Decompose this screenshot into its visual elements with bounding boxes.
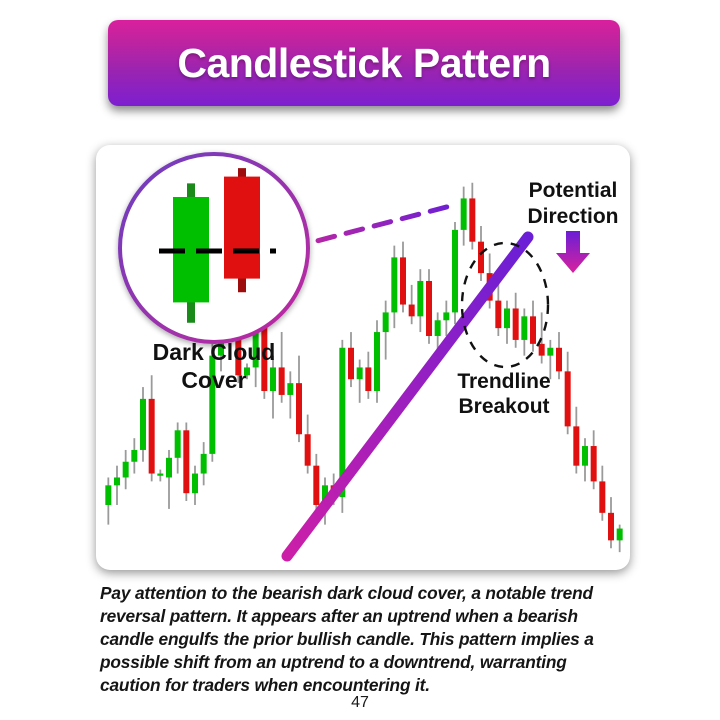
potential-direction-arrow-icon: [556, 231, 590, 273]
candle-body-bullish: [287, 383, 293, 395]
candle-body-bearish: [478, 242, 484, 273]
page-root: Candlestick Pattern: [0, 0, 720, 720]
breakout-label-line1: Trendline: [457, 370, 550, 393]
candle-body-bearish: [183, 430, 189, 493]
candle-body-bullish: [435, 320, 441, 336]
candle-body-bullish: [192, 474, 198, 494]
candle-body-bullish: [105, 485, 111, 505]
candle-body-bullish: [157, 474, 163, 476]
magnifier-label-line1: Dark Cloud: [153, 339, 276, 365]
candle-body-bearish: [279, 367, 285, 395]
candle-body-bullish: [114, 477, 120, 485]
magnifier-connector-line: [290, 204, 458, 248]
magnifier-lens: [120, 154, 308, 342]
candle-body-bullish: [270, 367, 276, 391]
candle-body-bearish: [469, 198, 475, 241]
candle-body-bearish: [305, 434, 311, 465]
candle-body-bullish: [140, 399, 146, 450]
candle-body-bearish: [565, 371, 571, 426]
candle-body-bearish: [426, 281, 432, 336]
candle-body-bullish: [175, 430, 181, 458]
caption-text: Pay attention to the bearish dark cloud …: [100, 582, 628, 697]
candlestick-chart: Dark Cloud Cover Trendline Breakout Pote…: [96, 145, 630, 570]
candle-body-bearish: [348, 348, 354, 379]
candle-body-bearish: [556, 348, 562, 372]
candle-body-bearish: [365, 367, 371, 391]
candle-body-bullish: [383, 312, 389, 332]
candle-body-bullish: [452, 230, 458, 313]
candle-body-bullish: [374, 332, 380, 391]
candle-body-bullish: [461, 198, 467, 229]
candle-body-bullish: [131, 450, 137, 462]
direction-label-line1: Potential: [529, 179, 618, 202]
candle-body-bearish: [513, 308, 519, 339]
candle-body-bullish: [417, 281, 423, 316]
candle-body-bearish: [149, 399, 155, 474]
candle-body-bullish: [443, 312, 449, 320]
candle-body-bullish: [582, 446, 588, 466]
magnifier-label-line2: Cover: [181, 367, 246, 393]
candle-body-bearish: [591, 446, 597, 481]
candle-body-bullish: [521, 316, 527, 340]
candle-body-bullish: [617, 529, 623, 541]
direction-label-line2: Direction: [527, 205, 618, 228]
candle-body-bullish: [391, 257, 397, 312]
candle-body-bearish: [296, 383, 302, 434]
magnifier-circle: [120, 154, 308, 342]
candle-body-bearish: [599, 481, 605, 512]
bearish-candle: [224, 177, 260, 279]
page-title: Candlestick Pattern: [177, 40, 550, 87]
candle-body-bearish: [495, 301, 501, 329]
candle-body-bullish: [201, 454, 207, 474]
candle-body-bearish: [573, 426, 579, 465]
candle-body-bullish: [357, 367, 363, 379]
title-banner: Candlestick Pattern: [108, 20, 620, 106]
candle-body-bearish: [313, 466, 319, 505]
candle-body-bullish: [123, 462, 129, 478]
candle-body-bullish: [547, 348, 553, 356]
candle-body-bearish: [409, 305, 415, 317]
candle-body-bearish: [400, 257, 406, 304]
chart-card: Dark Cloud Cover Trendline Breakout Pote…: [96, 145, 630, 570]
candle-body-bearish: [530, 316, 536, 344]
candle-body-bearish: [608, 513, 614, 541]
candle-body-bullish: [504, 308, 510, 328]
candle-body-bearish: [539, 344, 545, 356]
page-number: 47: [0, 694, 720, 712]
candle-body-bullish: [166, 458, 172, 478]
breakout-label-line2: Breakout: [458, 395, 549, 418]
